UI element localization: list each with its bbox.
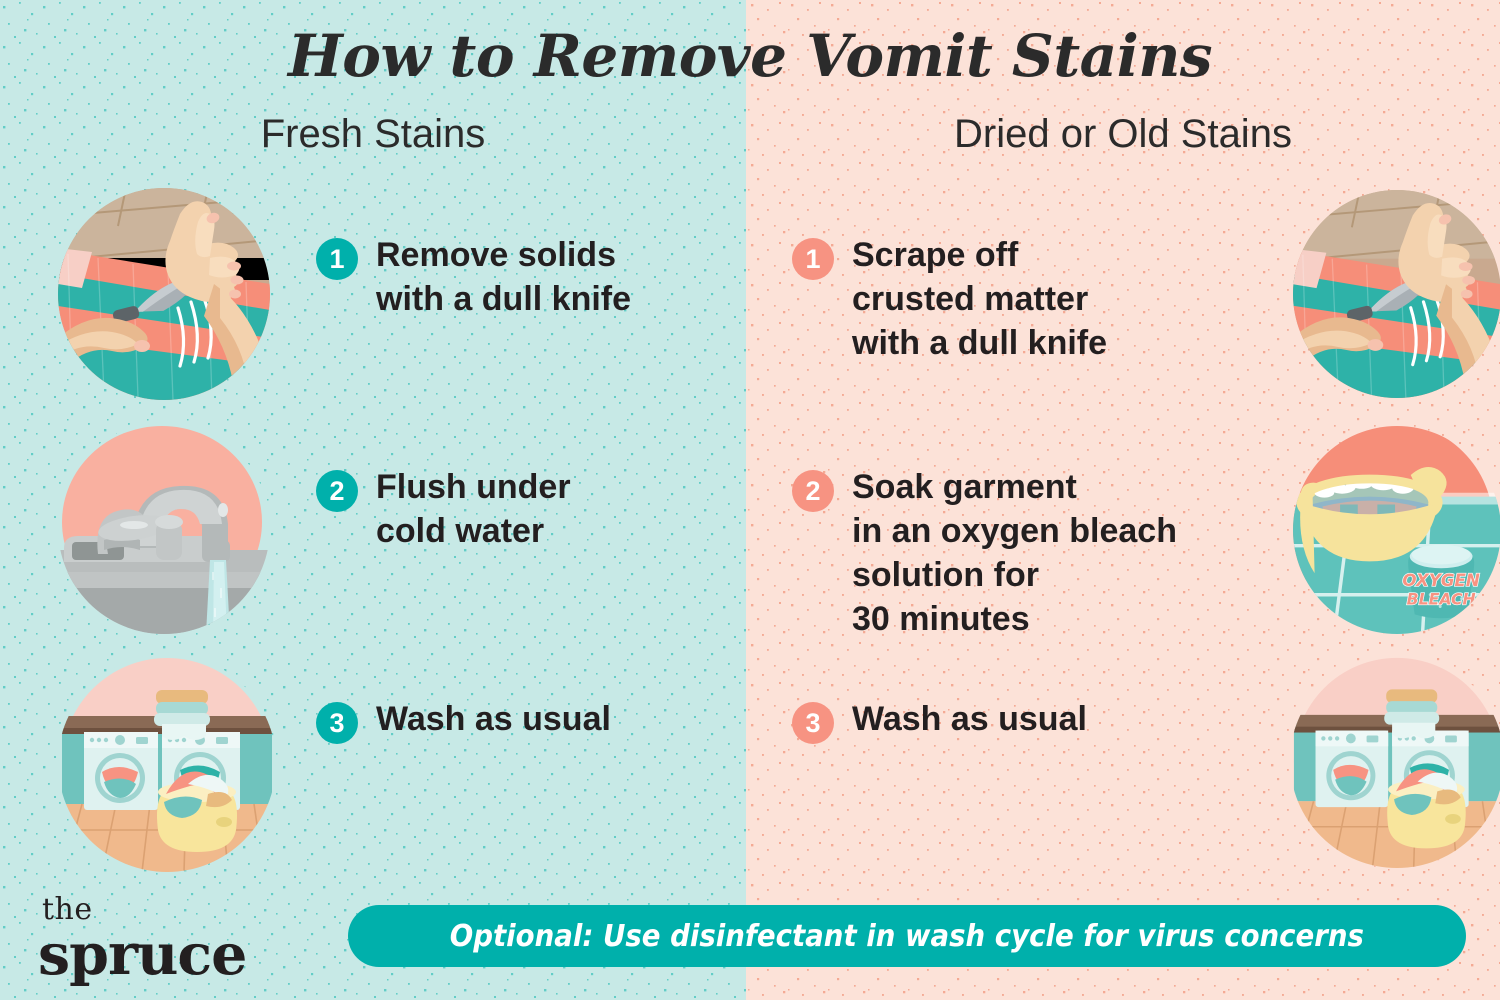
infographic-canvas: How to Remove Vomit Stains Fresh Stains … [0,0,1500,1000]
step-text-fresh-3: Wash as usual [376,698,611,742]
illustration-knife-scraping-right [1293,190,1500,398]
column-heading-dried: Dried or Old Stains [746,112,1500,157]
step-badge-fresh-2: 2 [316,470,358,512]
step-text-dried-1: Scrape off crusted matter with a dull kn… [852,234,1107,366]
step-row-dried-3: 3 Wash as usual [792,702,1087,744]
step-text-dried-2: Soak garment in an oxygen bleach solutio… [852,466,1177,641]
step-row-fresh-3: 3 Wash as usual [316,702,611,744]
page-title: How to Remove Vomit Stains [0,22,1500,90]
step-row-fresh-2: 2 Flush under cold water [316,470,571,554]
illustration-faucet-left [58,422,270,634]
step-text-fresh-1: Remove solids with a dull knife [376,234,631,322]
step-badge-dried-2: 2 [792,470,834,512]
oxygen-bleach-label-line2: BLEACH [1407,590,1476,609]
optional-tip-banner: Optional: Use disinfectant in wash cycle… [348,905,1466,967]
step-row-fresh-1: 1 Remove solids with a dull knife [316,238,631,322]
illustration-knife-scraping-left [58,188,270,400]
step-text-fresh-2: Flush under cold water [376,466,571,554]
step-badge-fresh-3: 3 [316,702,358,744]
illustration-oxygen-bleach-basin: OXYGEN BLEACH [1293,426,1500,634]
step-row-dried-1: 1 Scrape off crusted matter with a dull … [792,238,1107,366]
oxygen-bleach-label-line1: OXYGEN [1402,571,1480,590]
logo-line-spruce: spruce [38,926,246,983]
column-heading-fresh: Fresh Stains [0,112,746,157]
illustration-laundry-room-right [1290,654,1500,868]
the-spruce-logo: the spruce [38,895,246,983]
illustration-laundry-room-left [58,654,276,872]
step-badge-dried-3: 3 [792,702,834,744]
step-badge-fresh-1: 1 [316,238,358,280]
optional-tip-text: Optional: Use disinfectant in wash cycle… [450,919,1364,954]
step-badge-dried-1: 1 [792,238,834,280]
step-text-dried-3: Wash as usual [852,698,1087,742]
step-row-dried-2: 2 Soak garment in an oxygen bleach solut… [792,470,1177,641]
